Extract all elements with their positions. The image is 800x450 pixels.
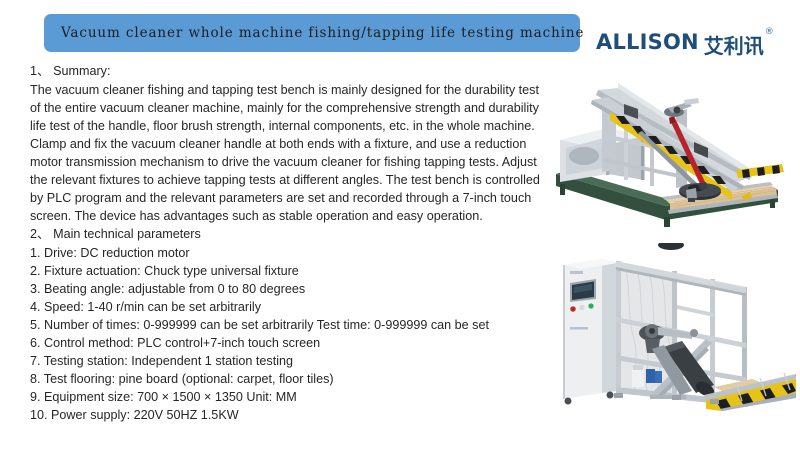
parameter-item: 3. Beating angle: adjustable from 0 to 8…: [30, 280, 545, 298]
product-photo-control-cabinet: [546, 243, 796, 411]
page-title: Vacuum cleaner whole machine fishing/tap…: [44, 25, 584, 41]
parameter-item: 5. Number of times: 0-999999 can be set …: [30, 316, 545, 334]
parameter-item: 10. Power supply: 220V 50HZ 1.5KW: [30, 406, 545, 424]
parameter-item: 8. Test flooring: pine board (optional: …: [30, 370, 545, 388]
summary-paragraph: The vacuum cleaner fishing and tapping t…: [30, 81, 545, 225]
registered-trademark-icon: ®: [765, 27, 774, 37]
specification-text-column: 1、 Summary: The vacuum cleaner fishing a…: [30, 62, 545, 424]
logo-chinese-text: 艾利讯: [704, 30, 764, 59]
product-photo-test-bench: [546, 78, 796, 230]
page-header: Vacuum cleaner whole machine fishing/tap…: [0, 0, 800, 70]
parameter-item: 2. Fixture actuation: Chuck type univers…: [30, 262, 545, 280]
parameter-item: 9. Equipment size: 700 × 1500 × 1350 Uni…: [30, 388, 545, 406]
parameter-item: 1. Drive: DC reduction motor: [30, 244, 545, 262]
parameters-heading: 2、 Main technical parameters: [30, 225, 545, 244]
brand-logo: ALLISON 艾利讯 ®: [596, 30, 774, 59]
parameter-item: 7. Testing station: Independent 1 statio…: [30, 352, 545, 370]
parameter-item: 4. Speed: 1-40 r/min can be set arbitrar…: [30, 298, 545, 316]
logo-latin-text: ALLISON: [596, 30, 699, 54]
title-banner: Vacuum cleaner whole machine fishing/tap…: [44, 14, 580, 52]
summary-heading: 1、 Summary:: [30, 62, 545, 81]
parameter-item: 6. Control method: PLC control+7-inch to…: [30, 334, 545, 352]
